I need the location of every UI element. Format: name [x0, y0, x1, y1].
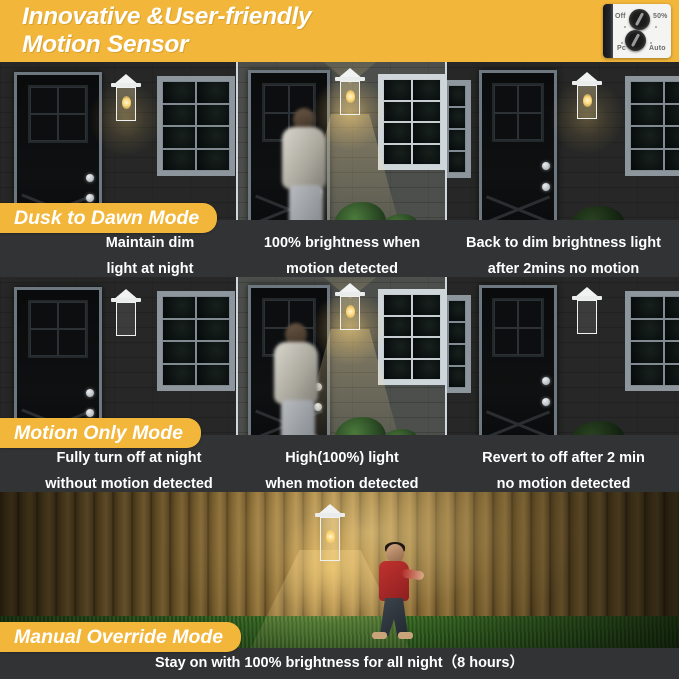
- header-banner: Innovative &User-friendly Motion Sensor …: [0, 0, 679, 62]
- caption-dusk-dim: Maintain dim light at night: [60, 230, 240, 282]
- badge-motion-only-mode: Motion Only Mode: [0, 418, 201, 448]
- wall-lantern-icon: [330, 68, 370, 118]
- caption-motion-revert: Revert to off after 2 min no motion dete…: [448, 445, 679, 497]
- wall-lantern-icon: [106, 289, 146, 339]
- caption-motion-off: Fully turn off at night without motion d…: [24, 445, 234, 497]
- badge-dusk-to-dawn-mode: Dusk to Dawn Mode: [0, 203, 217, 233]
- dial-label-50: 50%: [653, 13, 668, 20]
- dial-label-auto: Auto: [649, 45, 666, 52]
- badge-manual-override-mode: Manual Override Mode: [0, 622, 241, 652]
- wall-lantern-icon: [106, 74, 146, 124]
- page-title: Innovative &User-friendly Motion Sensor: [22, 3, 492, 59]
- dial-label-off: Off: [615, 13, 626, 20]
- wall-lantern-icon: [567, 72, 607, 122]
- caption-motion-bright: High(100%) light when motion detected: [238, 445, 446, 497]
- wall-lantern-icon: [330, 283, 370, 333]
- dial-label-pc: Pc: [617, 45, 626, 52]
- caption-dusk-bright: 100% brightness when motion detected: [238, 230, 446, 282]
- child-walking: [372, 544, 426, 638]
- brightness-knob-icon: [629, 9, 650, 30]
- fixture-edge: [603, 4, 613, 58]
- mode-knob-icon: [625, 30, 646, 51]
- sensor-dial-image: Off 50% Pc Auto: [603, 4, 671, 58]
- caption-dusk-redim: Back to dim brightness light after 2mins…: [448, 230, 679, 282]
- wall-lantern-icon: [567, 287, 607, 337]
- product-feature-infographic: Innovative &User-friendly Motion Sensor …: [0, 0, 679, 679]
- caption-manual-override: Stay on with 100% brightness for all nig…: [0, 651, 679, 676]
